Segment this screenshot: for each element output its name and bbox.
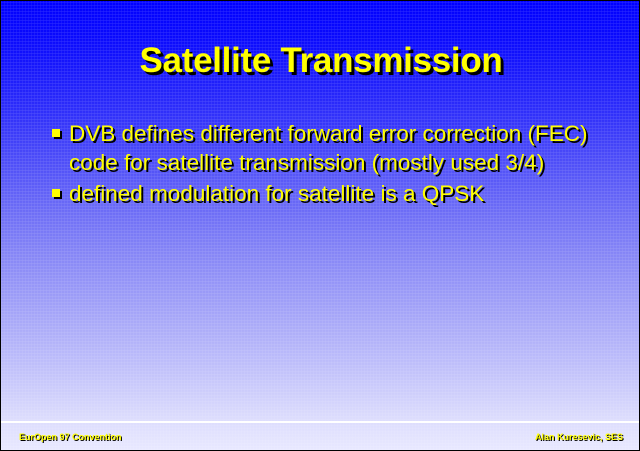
slide-footer: EurOpen 97 Convention Alan Kuresevic, SE… [1, 431, 640, 449]
bullet-item-text: DVB defines different forward error corr… [69, 119, 609, 177]
footer-divider [1, 421, 640, 423]
footer-event-label: EurOpen 97 Convention [19, 431, 122, 443]
square-bullet-icon [52, 189, 60, 197]
slide-title: Satellite Transmission [1, 42, 640, 80]
bullet-list: DVB defines different forward error corr… [49, 119, 609, 210]
bullet-item-text: defined modulation for satellite is a QP… [69, 179, 609, 208]
slide-content: Satellite Transmission DVB defines diffe… [1, 1, 639, 450]
square-bullet-icon [52, 129, 60, 137]
bullet-item: defined modulation for satellite is a QP… [49, 179, 609, 208]
bullet-item: DVB defines different forward error corr… [49, 119, 609, 177]
presentation-slide: Satellite Transmission DVB defines diffe… [0, 0, 640, 451]
footer-author-label: Alan Kuresevic, SES [535, 431, 623, 443]
